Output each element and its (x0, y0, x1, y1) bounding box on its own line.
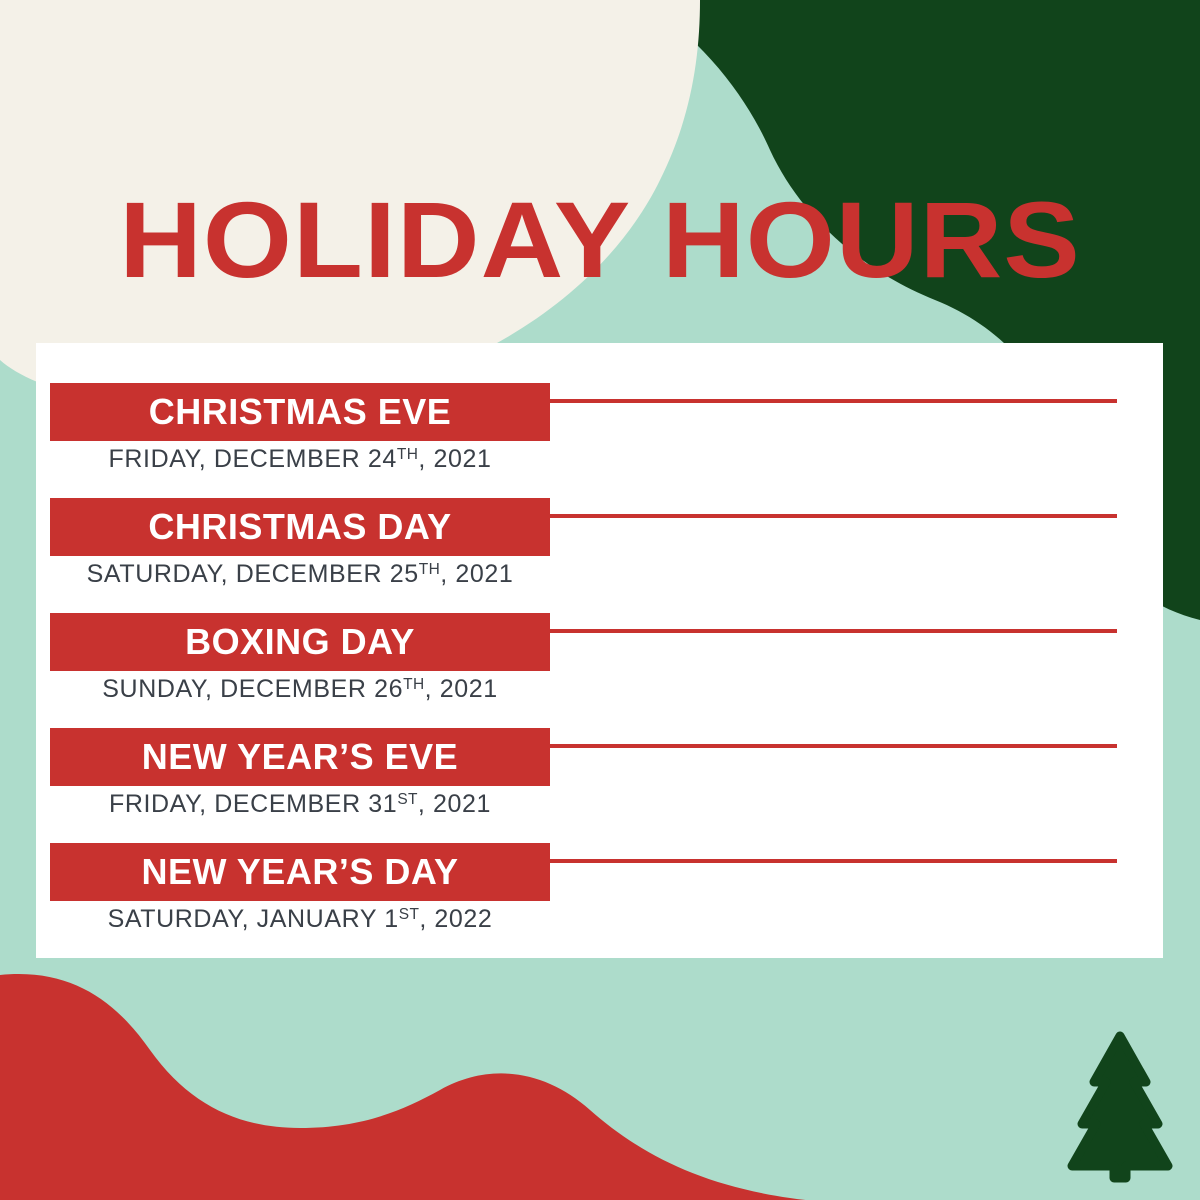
holiday-date-sep2: , (419, 905, 434, 933)
holiday-date-day: 1 (384, 905, 399, 933)
holiday-hours-list: CHRISTMAS EVE FRIDAY, DECEMBER 24TH, 202… (36, 343, 1163, 958)
holiday-name: NEW YEAR’S EVE (142, 739, 458, 775)
holiday-label-bar: NEW YEAR’S DAY (50, 843, 550, 901)
holiday-date: SATURDAY, JANUARY 1ST, 2022 (50, 907, 550, 932)
holiday-date-year: 2022 (434, 905, 492, 933)
title-container: HOLIDAY HOURS (0, 186, 1200, 294)
holiday-name: BOXING DAY (185, 624, 415, 660)
holiday-label-bar: NEW YEAR’S EVE (50, 728, 550, 786)
holiday-date-prefix: SATURDAY (108, 905, 242, 933)
holiday-date-sep: , (242, 905, 257, 933)
holiday-name: CHRISTMAS EVE (149, 394, 452, 430)
holiday-date-month: JANUARY (257, 905, 377, 933)
list-item: BOXING DAY SUNDAY, DECEMBER 26TH, 2021 (36, 573, 1163, 688)
list-item: CHRISTMAS EVE FRIDAY, DECEMBER 24TH, 202… (36, 343, 1163, 458)
holiday-label-bar: CHRISTMAS EVE (50, 383, 550, 441)
page-title: HOLIDAY HOURS (0, 186, 1200, 294)
holiday-hours-poster: HOLIDAY HOURS CHRISTMAS EVE FRIDAY, DECE… (0, 0, 1200, 1200)
holiday-name: CHRISTMAS DAY (148, 509, 451, 545)
holiday-label-bar: CHRISTMAS DAY (50, 498, 550, 556)
hours-card: CHRISTMAS EVE FRIDAY, DECEMBER 24TH, 202… (36, 343, 1163, 958)
holiday-date-suffix: ST (399, 906, 420, 923)
list-item: NEW YEAR’S DAY SATURDAY, JANUARY 1ST, 20… (36, 803, 1163, 923)
christmas-tree-icon (1060, 1020, 1180, 1190)
list-item: CHRISTMAS DAY SATURDAY, DECEMBER 25TH, 2… (36, 458, 1163, 573)
holiday-name: NEW YEAR’S DAY (141, 854, 458, 890)
holiday-label-bar: BOXING DAY (50, 613, 550, 671)
list-item: NEW YEAR’S EVE FRIDAY, DECEMBER 31ST, 20… (36, 688, 1163, 803)
